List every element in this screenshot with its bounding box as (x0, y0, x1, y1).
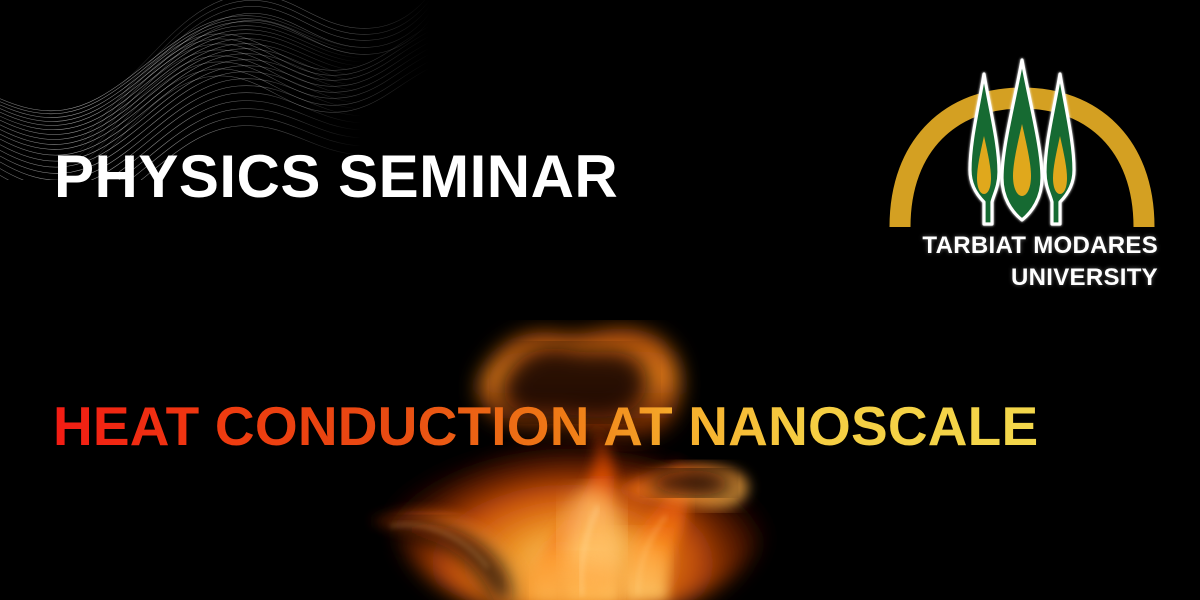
logo-mark-svg (880, 52, 1165, 230)
logo-wordmark: TARBIAT MODARES UNIVERSITY (880, 230, 1158, 294)
flame-photo-decoration (330, 320, 850, 600)
university-logo: TARBIAT MODARES UNIVERSITY (880, 52, 1165, 297)
page-kicker: PHYSICS SEMINAR (54, 147, 618, 207)
tarbiat-modares-tulip-arch-mark (880, 52, 1165, 230)
logo-name-line1: TARBIAT MODARES (922, 232, 1158, 259)
logo-name-line2: UNIVERSITY (880, 262, 1158, 294)
flame-glow (350, 330, 830, 600)
logo-tulips (970, 60, 1074, 224)
logo-tulip-center (1002, 60, 1042, 220)
seminar-poster: PHYSICS SEMINAR HEAT CONDUCTION AT NANOS… (0, 0, 1200, 600)
flame-svg (330, 320, 850, 600)
page-title: HEAT CONDUCTION AT NANOSCALE (53, 399, 1038, 454)
